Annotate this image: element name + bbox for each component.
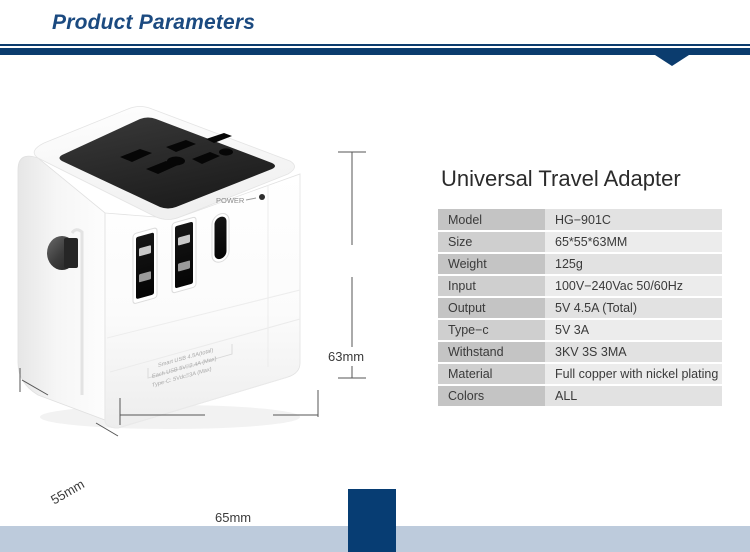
product-name: Universal Travel Adapter bbox=[441, 166, 681, 192]
spec-label: Weight bbox=[438, 253, 545, 275]
power-label: POWER bbox=[216, 196, 245, 205]
spec-label: Size bbox=[438, 231, 545, 253]
specifications-table-body: ModelHG−901C Size65*55*63MM Weight125g I… bbox=[438, 209, 722, 407]
dimension-label-depth: 55mm bbox=[45, 474, 90, 510]
usb-a-port-2 bbox=[172, 217, 196, 294]
spec-label: Material bbox=[438, 363, 545, 385]
table-row: Type−c5V 3A bbox=[438, 319, 722, 341]
page-title: Product Parameters bbox=[52, 11, 255, 35]
slider-knob-tab bbox=[64, 238, 78, 268]
table-row: ColorsALL bbox=[438, 385, 722, 407]
spec-value: 5V 4.5A (Total) bbox=[545, 297, 722, 319]
header-rule-thin bbox=[0, 44, 750, 46]
specifications-table: ModelHG−901C Size65*55*63MM Weight125g I… bbox=[438, 209, 722, 408]
dimension-label-width: 65mm bbox=[212, 509, 254, 526]
table-row: ModelHG−901C bbox=[438, 209, 722, 231]
product-parameters-page: Product Parameters bbox=[0, 0, 750, 552]
product-image: POWER bbox=[0, 95, 400, 450]
scroll-down-button[interactable] bbox=[348, 489, 396, 552]
spec-label: Withstand bbox=[438, 341, 545, 363]
spec-label: Type−c bbox=[438, 319, 545, 341]
spec-value: 3KV 3S 3MA bbox=[545, 341, 722, 363]
spec-label: Output bbox=[438, 297, 545, 319]
header-rule-thick bbox=[0, 48, 750, 55]
spec-value: Full copper with nickel plating bbox=[545, 363, 722, 385]
power-led-icon bbox=[259, 194, 265, 200]
table-row: Weight125g bbox=[438, 253, 722, 275]
dimension-label-height: 63mm bbox=[327, 347, 365, 366]
table-row: Output5V 4.5A (Total) bbox=[438, 297, 722, 319]
table-row: MaterialFull copper with nickel plating bbox=[438, 363, 722, 385]
spec-value: 65*55*63MM bbox=[545, 231, 722, 253]
table-row: Input100V−240Vac 50/60Hz bbox=[438, 275, 722, 297]
table-row: Size65*55*63MM bbox=[438, 231, 722, 253]
usb-c-port bbox=[212, 211, 229, 264]
adapter-illustration: POWER bbox=[0, 95, 400, 450]
spec-value: 5V 3A bbox=[545, 319, 722, 341]
table-row: Withstand3KV 3S 3MA bbox=[438, 341, 722, 363]
spec-label: Input bbox=[438, 275, 545, 297]
adapter-left-face bbox=[18, 156, 105, 420]
dimension-height-63mm bbox=[338, 152, 366, 378]
spec-label: Colors bbox=[438, 385, 545, 407]
header-triangle-accent bbox=[655, 55, 689, 66]
usb-a-port-1 bbox=[133, 227, 157, 304]
spec-value: 125g bbox=[545, 253, 722, 275]
spec-value: HG−901C bbox=[545, 209, 722, 231]
spec-value: ALL bbox=[545, 385, 722, 407]
spec-value: 100V−240Vac 50/60Hz bbox=[545, 275, 722, 297]
spec-label: Model bbox=[438, 209, 545, 231]
